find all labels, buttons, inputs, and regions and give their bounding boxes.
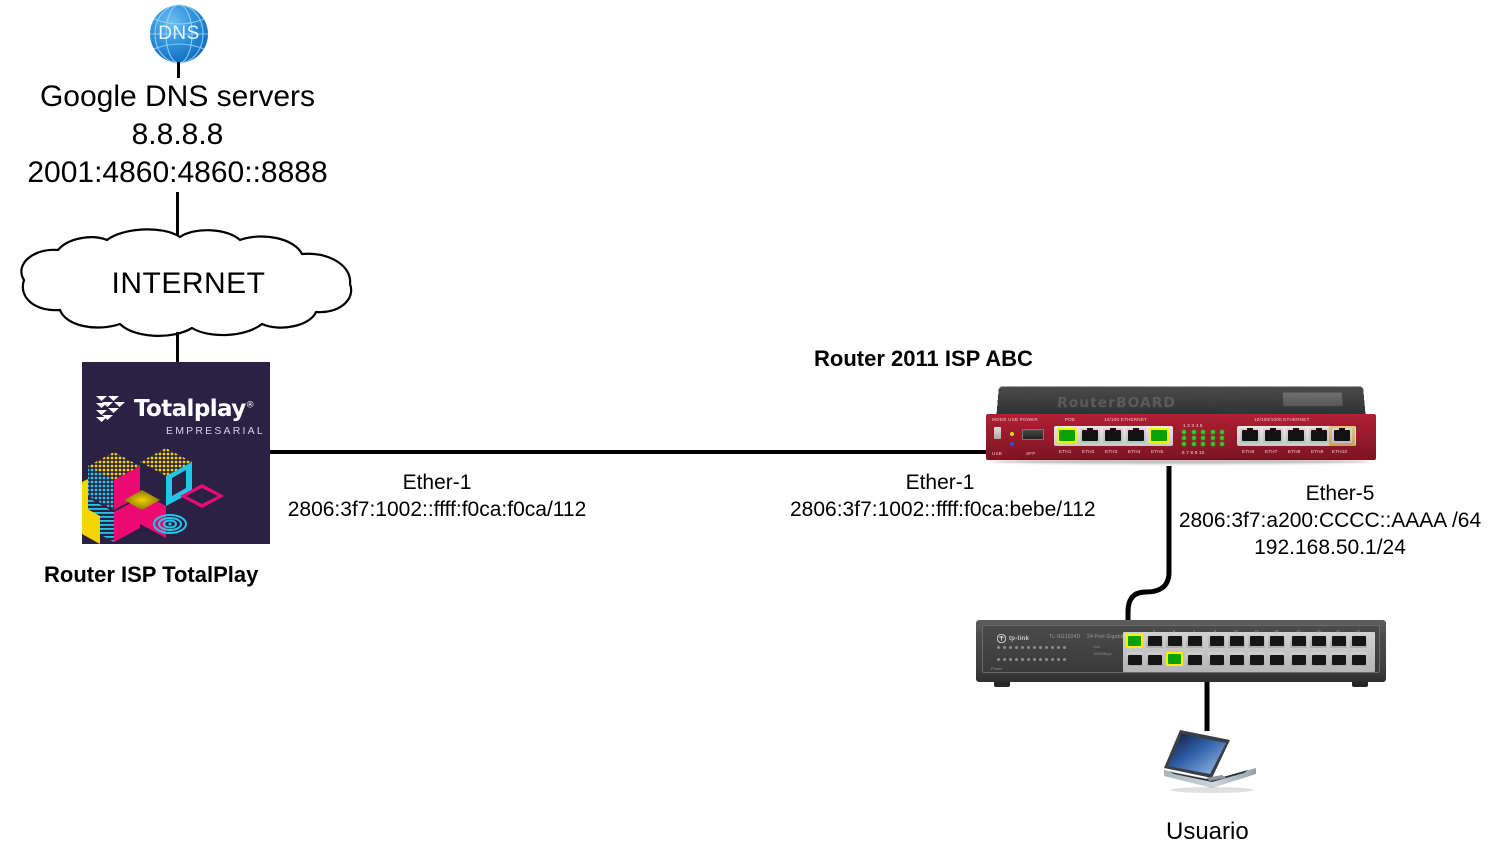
router-port-eth6[interactable]: [1240, 428, 1260, 443]
router-led: [1192, 436, 1196, 440]
router-status-led-grid: [1182, 430, 1228, 446]
router-led: [1220, 436, 1224, 440]
internet-cloud: INTERNET: [12, 228, 357, 340]
switch-foot-left: [994, 682, 1010, 687]
switch-port-12[interactable]: [1228, 652, 1245, 666]
link-lan-address-v6: 2806:3f7:a200:CCCC::AAAA /64: [1160, 509, 1500, 533]
switch-port-1[interactable]: [1126, 634, 1143, 648]
router-led: [1182, 436, 1186, 440]
switch-port-number: 16: [1273, 668, 1277, 673]
switch-link-label: Link: [1093, 644, 1100, 649]
switch-port-17[interactable]: [1290, 634, 1307, 648]
switch-port-number: 6: [1172, 668, 1174, 673]
router-port-eth3[interactable]: [1103, 428, 1123, 443]
router-led: [1211, 442, 1215, 446]
dns-ipv6: 2001:4860:4860::8888: [0, 156, 355, 190]
link-wan-address: 2806:3f7:1002::ffff:f0ca:bebe/112: [790, 498, 1090, 522]
switch-port-16[interactable]: [1268, 652, 1285, 666]
router-port-eth10[interactable]: [1332, 428, 1352, 443]
totalplay-logo: Totalplay®: [96, 394, 256, 424]
switch-port-24[interactable]: [1350, 652, 1367, 666]
switch-port-number: 14: [1253, 668, 1257, 673]
isp-router-totalplay: Totalplay® EMPRESARIAL: [82, 362, 270, 544]
user-label: Usuario: [1166, 818, 1249, 846]
mikrotik-rb2011-router: RouterBOARD MODE USB POWER POE 10/100 ET…: [986, 386, 1376, 468]
router-mode-led: [1010, 432, 1014, 436]
switch-port-10[interactable]: [1208, 652, 1225, 666]
router-sfp-port: [1022, 429, 1044, 440]
tplink-mark-icon: [997, 634, 1006, 643]
router-port-eth2[interactable]: [1080, 428, 1100, 443]
switch-port-number: 13: [1254, 629, 1258, 634]
switch-port-13[interactable]: [1248, 634, 1265, 648]
link-wan-interface: Ether-1: [790, 471, 1090, 495]
router-sfp-label: SFP: [1026, 451, 1036, 456]
switch-port-number: 5: [1173, 629, 1175, 634]
router-port-label-eth8: ETH8: [1288, 449, 1301, 454]
link-lan-address-v4: 192.168.50.1/24: [1160, 536, 1500, 560]
switch-port-number: 21: [1336, 629, 1340, 634]
totalplay-segment-label: EMPRESARIAL: [166, 425, 265, 437]
router-port-eth5[interactable]: [1149, 428, 1169, 443]
router-port-label-eth3: ETH3: [1105, 449, 1118, 454]
router-port-eth8[interactable]: [1286, 428, 1306, 443]
switch-port-20[interactable]: [1310, 652, 1327, 666]
switch-port-number: 22: [1335, 668, 1339, 673]
routerboard-brand-text: RouterBOARD: [1057, 395, 1176, 411]
router-port-label-eth5: ETH5: [1151, 449, 1164, 454]
router-led: [1201, 430, 1205, 434]
router-led: [1182, 442, 1186, 446]
switch-port-number: 4: [1152, 668, 1154, 673]
tplink-switch: tp-link TL-SG1024D 24-Port Gigabit Switc…: [976, 620, 1386, 690]
switch-port-number: 3: [1153, 629, 1155, 634]
link-lan-interface: Ether-5: [1180, 482, 1500, 506]
router-poe-legend: POE: [1065, 417, 1075, 422]
dns-ipv4: 8.8.8.8: [0, 118, 355, 152]
router-drop-shadow: [992, 459, 1370, 464]
router-led: [1220, 430, 1224, 434]
router-group2-legend: 10/100/1000 ETHERNET: [1254, 417, 1310, 422]
tplink-logo: tp-link: [997, 634, 1029, 643]
switch-port-2[interactable]: [1126, 652, 1143, 666]
router-led: [1201, 436, 1205, 440]
switch-port-number: 7: [1193, 629, 1195, 634]
router-port-label-eth10: ETH10: [1332, 449, 1347, 454]
switch-port-number: 18: [1295, 668, 1299, 673]
router-port-eth7[interactable]: [1263, 428, 1283, 443]
router-led: [1211, 436, 1215, 440]
router-front-panel: MODE USB POWER POE 10/100 ETHERNET 10/10…: [986, 414, 1376, 460]
switch-port-number: 10: [1213, 668, 1217, 673]
router-led-digits-top: 1 2 3 4 5: [1183, 423, 1203, 428]
switch-port-9[interactable]: [1208, 634, 1225, 648]
tplink-brand-text: tp-link: [1009, 636, 1029, 642]
router-power-led: [1010, 442, 1014, 446]
switch-port-number: 2: [1132, 668, 1134, 673]
switch-led-row-bottom: [997, 658, 1066, 661]
switch-port-4[interactable]: [1146, 652, 1163, 666]
switch-port-15[interactable]: [1268, 634, 1285, 648]
totalplay-wordmark: Totalplay®: [134, 396, 254, 422]
router-usb-label: USB: [992, 451, 1002, 456]
switch-port-8[interactable]: [1186, 652, 1203, 666]
switch-power-label: Power: [991, 666, 1002, 671]
router-port-eth1[interactable]: [1057, 428, 1077, 443]
router-led-digits-bottom: 6 7 8 9 10: [1182, 450, 1204, 455]
switch-port-number: 8: [1192, 668, 1194, 673]
switch-port-number: 15: [1274, 629, 1278, 634]
switch-port-number: 19: [1316, 629, 1320, 634]
router-top-plate: [1283, 393, 1343, 407]
router-port-eth9[interactable]: [1309, 428, 1329, 443]
network-diagram-canvas: DNS Google DNS servers 8.8.8.8 2001:4860…: [0, 0, 1500, 849]
router-port-eth4[interactable]: [1126, 428, 1146, 443]
switch-port-number: 24: [1355, 668, 1359, 673]
switch-port-22[interactable]: [1330, 652, 1347, 666]
switch-port-6[interactable]: [1166, 652, 1183, 666]
totalplay-isometric-artwork: [82, 448, 270, 544]
link-isp-address: 2806:3f7:1002::ffff:f0ca:f0ca/112: [287, 498, 587, 522]
dns-server-name: Google DNS servers: [0, 80, 355, 114]
switch-port-18[interactable]: [1290, 652, 1307, 666]
switch-act-label: 1000Mbps: [1093, 651, 1112, 656]
router-port-label-eth7: ETH7: [1265, 449, 1278, 454]
switch-port-3[interactable]: [1146, 634, 1163, 648]
router-led: [1182, 430, 1186, 434]
switch-foot-right: [1352, 682, 1368, 687]
switch-front-bezel: tp-link TL-SG1024D 24-Port Gigabit Switc…: [982, 625, 1380, 673]
router-group1-legend: 10/100 ETHERNET: [1104, 417, 1147, 422]
switch-port-23[interactable]: [1350, 634, 1367, 648]
switch-port-number: 17: [1296, 629, 1300, 634]
router-port-label-eth9: ETH9: [1311, 449, 1324, 454]
router-led: [1192, 430, 1196, 434]
router-port-label-eth4: ETH4: [1128, 449, 1141, 454]
router-port-label-eth2: ETH2: [1082, 449, 1095, 454]
isp-router-label: Router ISP TotalPlay: [44, 562, 258, 588]
router-led: [1220, 442, 1224, 446]
dns-icon-label: DNS: [148, 3, 210, 65]
dns-stub-line: [177, 62, 180, 78]
router-left-legend: MODE USB POWER: [992, 417, 1038, 422]
totalplay-triangle-icon: [96, 396, 126, 422]
laptop-icon: [1160, 728, 1260, 794]
internet-cloud-label: INTERNET: [12, 228, 357, 340]
link-isp-interface: Ether-1: [287, 471, 587, 495]
router-port-label-eth6: ETH6: [1242, 449, 1255, 454]
switch-port-number: 23: [1356, 629, 1360, 634]
router-port-label-eth1: ETH1: [1059, 449, 1072, 454]
router-led: [1211, 430, 1215, 434]
wan-cable-line: [270, 450, 1070, 454]
switch-port-14[interactable]: [1248, 652, 1265, 666]
switch-port-number: 9: [1214, 629, 1216, 634]
router-led: [1201, 442, 1205, 446]
router-usb-port: [994, 427, 1001, 439]
switch-port-number: 11: [1234, 629, 1238, 634]
dns-globe-icon: DNS: [148, 3, 210, 65]
totalplay-brand-text: Totalplay: [134, 396, 246, 422]
switch-port-number: 12: [1233, 668, 1237, 673]
switch-port-19[interactable]: [1310, 634, 1327, 648]
switch-port-5[interactable]: [1166, 634, 1183, 648]
switch-model-text: TL-SG1024D: [1049, 634, 1080, 640]
router-2011-label: Router 2011 ISP ABC: [814, 346, 1033, 372]
totalplay-registered-mark: ®: [246, 400, 254, 410]
switch-port-21[interactable]: [1330, 634, 1347, 648]
switch-port-number: 20: [1315, 668, 1319, 673]
switch-led-row-top: [997, 646, 1066, 649]
router-led: [1192, 442, 1196, 446]
switch-port-11[interactable]: [1228, 634, 1245, 648]
switch-port-7[interactable]: [1186, 634, 1203, 648]
